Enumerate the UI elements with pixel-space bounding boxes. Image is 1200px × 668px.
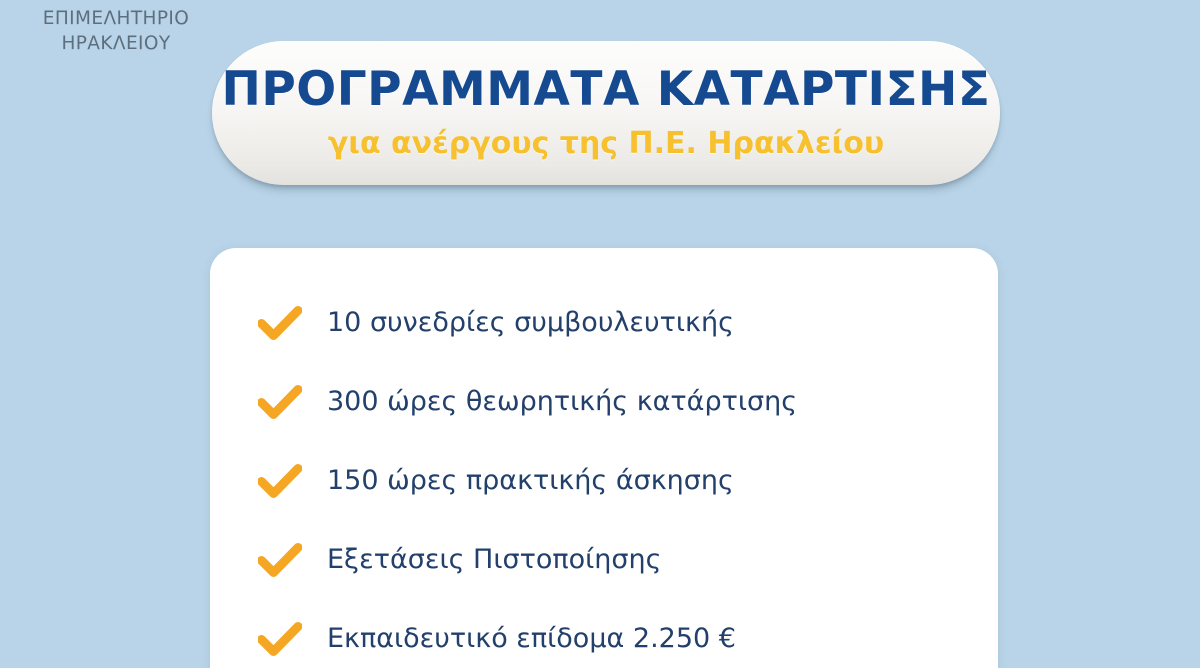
logo-line-2: ΗΡΑΚΛΕΙΟΥ bbox=[0, 31, 232, 56]
check-icon bbox=[258, 385, 302, 419]
check-icon bbox=[258, 464, 302, 498]
benefit-item: Εκπαιδευτικό επίδομα 2.250 € bbox=[210, 599, 998, 668]
poster-canvas: ΕΠΙΜΕΛΗΤΗΡΙΟ ΗΡΑΚΛΕΙΟΥ ΠΡΟΓΡΑΜΜΑΤΑ ΚΑΤΑΡ… bbox=[0, 0, 1200, 668]
benefit-label: 300 ώρες θεωρητικής κατάρτισης bbox=[327, 385, 797, 419]
title-banner: ΠΡΟΓΡΑΜΜΑΤΑ ΚΑΤΑΡΤΙΣΗΣ για ανέργους της … bbox=[212, 41, 1000, 185]
benefits-list: 10 συνεδρίες συμβουλευτικής300 ώρες θεωρ… bbox=[210, 248, 998, 668]
benefits-card: 10 συνεδρίες συμβουλευτικής300 ώρες θεωρ… bbox=[210, 248, 998, 668]
benefit-label: 10 συνεδρίες συμβουλευτικής bbox=[327, 306, 734, 340]
page-subtitle: για ανέργους της Π.Ε. Ηρακλείου bbox=[328, 124, 884, 164]
benefit-item: Εξετάσεις Πιστοποίησης bbox=[210, 520, 998, 599]
page-title: ΠΡΟΓΡΑΜΜΑΤΑ ΚΑΤΑΡΤΙΣΗΣ bbox=[222, 63, 991, 117]
benefit-label: Εξετάσεις Πιστοποίησης bbox=[327, 543, 661, 577]
benefit-label: Εκπαιδευτικό επίδομα 2.250 € bbox=[327, 622, 736, 656]
benefit-item: 150 ώρες πρακτικής άσκησης bbox=[210, 441, 998, 520]
benefit-label: 150 ώρες πρακτικής άσκησης bbox=[327, 464, 734, 498]
chamber-logo: ΕΠΙΜΕΛΗΤΗΡΙΟ ΗΡΑΚΛΕΙΟΥ bbox=[0, 0, 232, 56]
check-icon bbox=[258, 622, 302, 656]
benefit-item: 10 συνεδρίες συμβουλευτικής bbox=[210, 283, 998, 362]
logo-line-1: ΕΠΙΜΕΛΗΤΗΡΙΟ bbox=[0, 6, 232, 31]
check-icon bbox=[258, 543, 302, 577]
check-icon bbox=[258, 306, 302, 340]
benefit-item: 300 ώρες θεωρητικής κατάρτισης bbox=[210, 362, 998, 441]
